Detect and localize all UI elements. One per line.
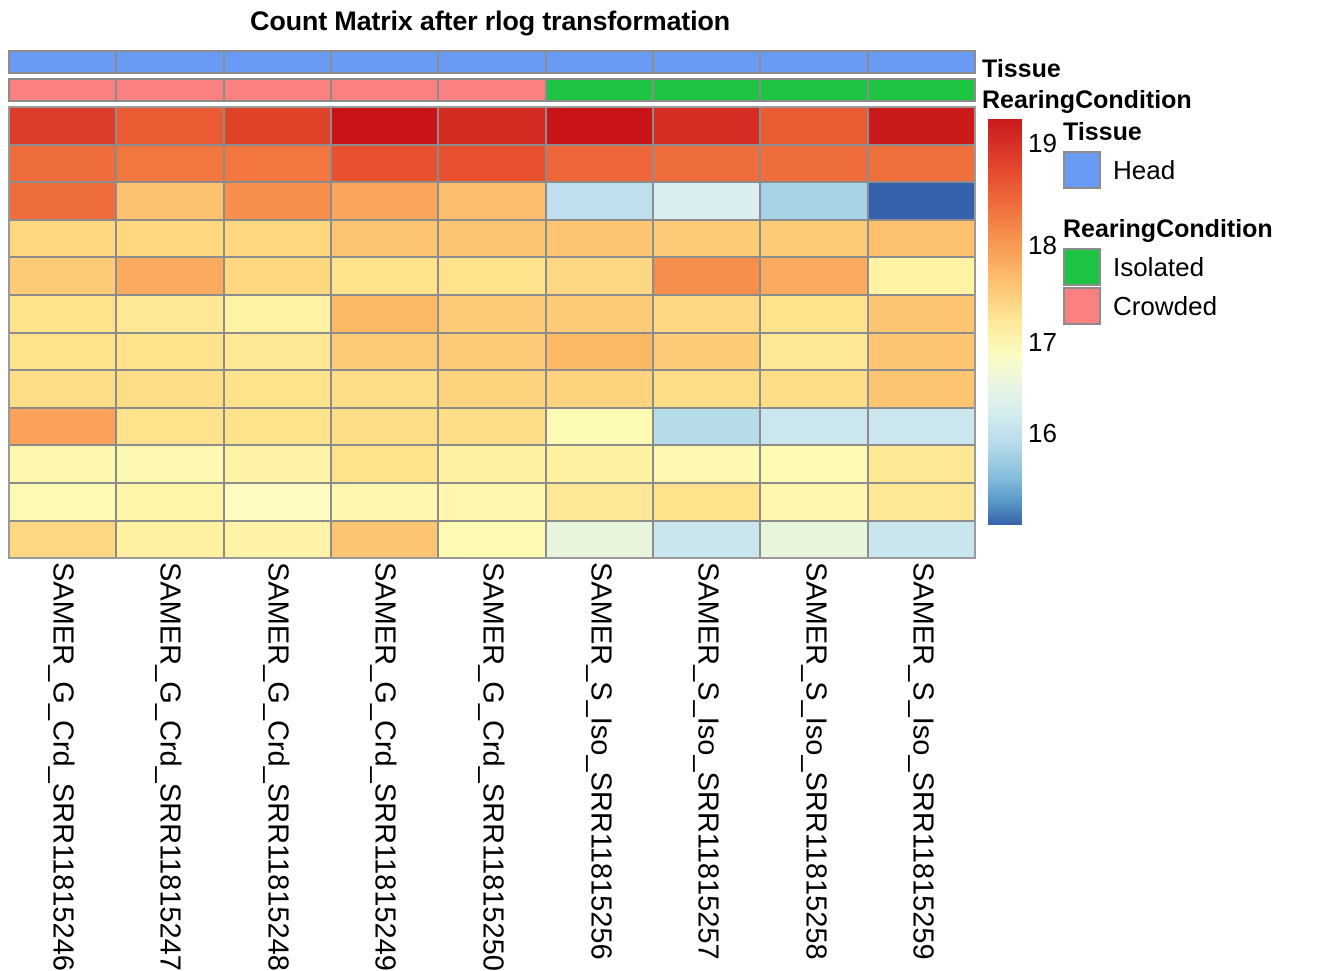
heatmap-cell [547,371,654,407]
heatmap-cell [869,522,974,558]
heatmap-cell [117,334,224,370]
heatmap-cell [225,146,332,182]
heatmap-cell [547,334,654,370]
legend-panel: TissueHeadRearingConditionIsolatedCrowde… [1063,118,1343,325]
annotation-tissue-cell [761,52,868,72]
heatmap-cell [439,522,546,558]
heatmap-cell [869,334,974,370]
annotation-tissue-cell [439,52,546,72]
heatmap-cell [10,146,117,182]
annotation-bar-rearingcondition [8,78,976,102]
heatmap-cell [761,258,868,294]
annotation-tissue-cell [332,52,439,72]
heatmap-cell [117,409,224,445]
heatmap-cell [332,409,439,445]
heatmap-cell [654,334,761,370]
annotation-tissue-cell [225,52,332,72]
colorbar-tick-label: 16 [1028,420,1057,446]
heatmap-cell [869,221,974,257]
heatmap-cell [439,296,546,332]
annotation-rearing-cell [225,80,332,100]
annotation-rearing-cell [439,80,546,100]
heatmap-matrix [8,106,976,559]
heatmap-cell [332,258,439,294]
heatmap-cell [547,522,654,558]
heatmap-row [10,334,974,372]
heatmap-cell [547,258,654,294]
heatmap-cell [332,371,439,407]
legend-title: Tissue [1063,118,1343,146]
heatmap-cell [439,446,546,482]
heatmap-cell [654,146,761,182]
heatmap-cell [10,522,117,558]
heatmap-cell [439,371,546,407]
heatmap-cell [547,108,654,144]
heatmap-cell [10,371,117,407]
heatmap-cell [547,296,654,332]
heatmap-cell [117,108,224,144]
column-label-slot: SAMER_G_Crd_SRR11815248 [223,556,331,956]
heatmap-cell [869,409,974,445]
heatmap-cell [761,146,868,182]
annotation-rearing-cell [332,80,439,100]
heatmap-cell [332,522,439,558]
heatmap-row [10,446,974,484]
annotation-rearing-cell [547,80,654,100]
column-label-axis: SAMER_G_Crd_SRR11815246SAMER_G_Crd_SRR11… [8,556,976,956]
annotation-rearing-cell [761,80,868,100]
heatmap-cell [332,108,439,144]
heatmap-cell [654,409,761,445]
column-label: SAMER_G_Crd_SRR11815246 [47,562,76,971]
heatmap-cell [332,221,439,257]
annotation-tissue-cell [117,52,224,72]
heatmap-cell [225,484,332,520]
column-label-slot: SAMER_G_Crd_SRR11815249 [331,556,439,956]
heatmap-cell [547,446,654,482]
annotation-rearing-cell [10,80,117,100]
heatmap-cell [439,334,546,370]
legend-spacer [1063,189,1343,215]
heatmap-cell [10,258,117,294]
heatmap-cell [439,108,546,144]
heatmap-cell [10,221,117,257]
heatmap-cell [117,258,224,294]
page-title: Count Matrix after rlog transformation [0,2,980,40]
heatmap-cell [117,146,224,182]
heatmap-cell [439,484,546,520]
annotation-rearing-cell [654,80,761,100]
heatmap-cell [869,484,974,520]
heatmap-cell [10,183,117,219]
heatmap-cell [225,221,332,257]
annotation-rearing-cell [117,80,224,100]
heatmap-cell [439,409,546,445]
heatmap-cell [761,371,868,407]
heatmap-cell [439,146,546,182]
legend-label: Head [1113,157,1175,183]
heatmap-cell [761,409,868,445]
column-label: SAMER_G_Crd_SRR11815249 [370,562,399,971]
heatmap-cell [654,484,761,520]
heatmap-row [10,146,974,184]
heatmap-cell [332,446,439,482]
heatmap-cell [332,334,439,370]
heatmap-cell [117,446,224,482]
column-label: SAMER_S_Iso_SRR11815257 [693,562,722,960]
heatmap-cell [654,108,761,144]
heatmap-cell [439,221,546,257]
heatmap-cell [654,258,761,294]
annotation-tissue-cell [654,52,761,72]
heatmap-panel [8,50,976,559]
column-label-slot: SAMER_S_Iso_SRR11815259 [869,556,977,956]
legend-entry: Head [1063,150,1343,189]
heatmap-cell [332,183,439,219]
heatmap-cell [869,371,974,407]
heatmap-cell [117,522,224,558]
heatmap-cell [332,484,439,520]
annotation-bar-tissue [8,50,976,74]
heatmap-cell [654,522,761,558]
heatmap-row [10,221,974,259]
heatmap-cell [225,446,332,482]
heatmap-cell [10,296,117,332]
heatmap-cell [332,296,439,332]
annotation-tissue-cell [547,52,654,72]
heatmap-cell [10,409,117,445]
heatmap-cell [869,108,974,144]
heatmap-cell [761,221,868,257]
heatmap-cell [225,183,332,219]
heatmap-cell [654,221,761,257]
heatmap-cell [869,296,974,332]
heatmap-cell [332,146,439,182]
heatmap-cell [225,371,332,407]
colorbar-tick-label: 19 [1028,130,1057,156]
heatmap-row [10,296,974,334]
heatmap-cell [869,446,974,482]
heatmap-cell [547,146,654,182]
legend-entry: Isolated [1063,247,1343,286]
heatmap-cell [117,296,224,332]
heatmap-cell [869,146,974,182]
heatmap-cell [117,484,224,520]
column-label: SAMER_S_Iso_SRR11815256 [585,562,614,960]
heatmap-cell [654,371,761,407]
heatmap-cell [761,334,868,370]
heatmap-cell [10,446,117,482]
heatmap-cell [225,522,332,558]
heatmap-cell [117,221,224,257]
heatmap-cell [225,334,332,370]
heatmap-cell [761,446,868,482]
heatmap-cell [225,296,332,332]
column-label-slot: SAMER_S_Iso_SRR11815257 [653,556,761,956]
heatmap-cell [225,108,332,144]
heatmap-cell [547,221,654,257]
heatmap-cell [869,183,974,219]
column-label-slot: SAMER_G_Crd_SRR11815250 [438,556,546,956]
annotation-name-rearingcondition: RearingCondition [982,88,1192,113]
heatmap-cell [547,484,654,520]
heatmap-cell [761,522,868,558]
heatmap-cell [117,183,224,219]
column-label: SAMER_S_Iso_SRR11815258 [800,562,829,960]
heatmap-row [10,484,974,522]
legend-label: Crowded [1113,293,1217,319]
heatmap-cell [761,108,868,144]
heatmap-row [10,258,974,296]
heatmap-cell [761,484,868,520]
legend-title: RearingCondition [1063,215,1343,243]
heatmap-cell [10,334,117,370]
colorbar-tick-label: 18 [1028,232,1057,258]
heatmap-cell [117,371,224,407]
heatmap-cell [654,446,761,482]
heatmap-row [10,522,974,558]
heatmap-row [10,409,974,447]
heatmap-row [10,371,974,409]
legend-swatch [1063,151,1101,189]
heatmap-row [10,108,974,146]
colorbar-gradient [988,119,1022,525]
colorbar: 19181716 [988,119,1022,525]
annotation-tissue-cell [10,52,117,72]
heatmap-cell [761,296,868,332]
heatmap-cell [869,258,974,294]
column-label: SAMER_S_Iso_SRR11815259 [908,562,937,960]
heatmap-cell [10,484,117,520]
annotation-name-tissue: Tissue [982,57,1061,82]
heatmap-cell [761,183,868,219]
annotation-tissue-cell [869,52,974,72]
heatmap-cell [654,183,761,219]
column-label-slot: SAMER_G_Crd_SRR11815247 [116,556,224,956]
heatmap-cell [225,409,332,445]
heatmap-cell [439,183,546,219]
column-label: SAMER_G_Crd_SRR11815247 [155,562,184,971]
column-label: SAMER_G_Crd_SRR11815248 [262,562,291,971]
colorbar-tick-label: 17 [1028,329,1057,355]
column-label: SAMER_G_Crd_SRR11815250 [478,562,507,971]
legend-label: Isolated [1113,254,1204,280]
legend-entry: Crowded [1063,286,1343,325]
legend-swatch [1063,248,1101,286]
column-label-slot: SAMER_G_Crd_SRR11815246 [8,556,116,956]
heatmap-row [10,183,974,221]
column-label-slot: SAMER_S_Iso_SRR11815258 [761,556,869,956]
annotation-rearing-cell [869,80,974,100]
heatmap-cell [654,296,761,332]
heatmap-cell [225,258,332,294]
legend-swatch [1063,287,1101,325]
column-label-slot: SAMER_S_Iso_SRR11815256 [546,556,654,956]
heatmap-cell [439,258,546,294]
heatmap-cell [547,409,654,445]
heatmap-cell [10,108,117,144]
heatmap-cell [547,183,654,219]
